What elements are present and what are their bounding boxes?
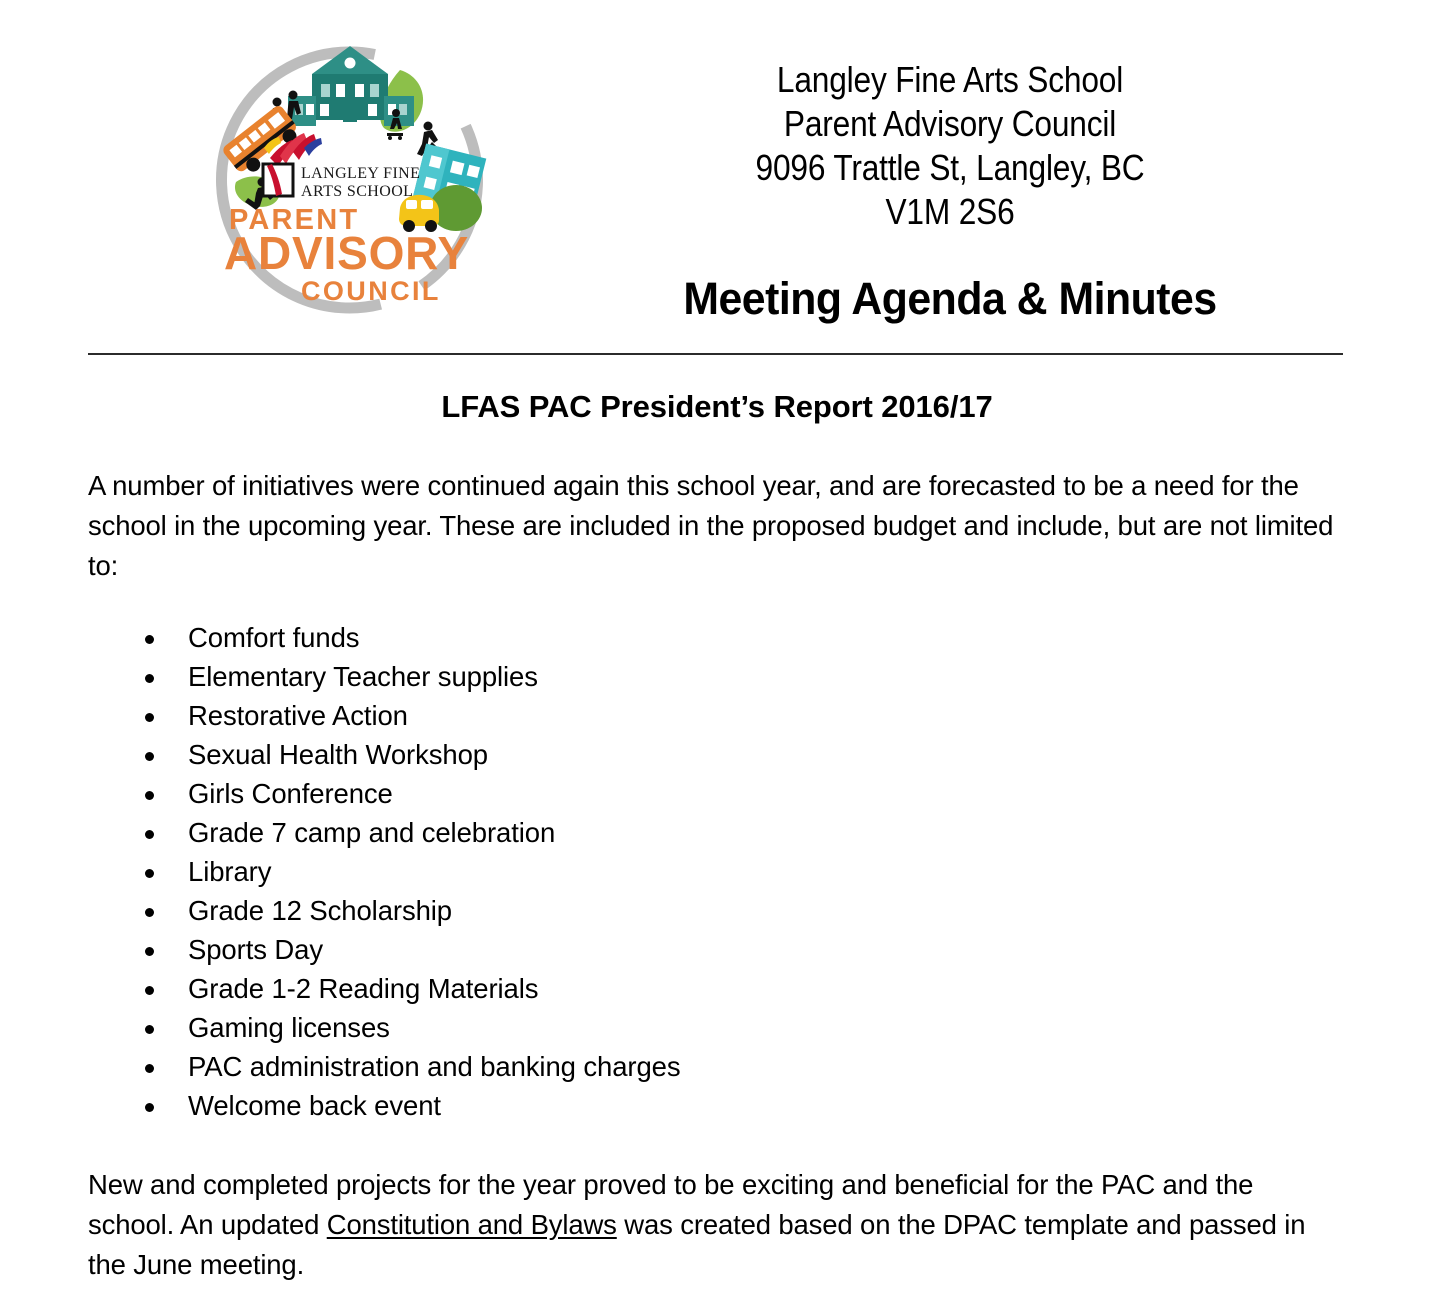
section-heading: LFAS PAC President’s Report 2016/17 [88, 387, 1346, 427]
list-item-label: Welcome back event [188, 1090, 441, 1121]
org-postal-code: V1M 2S6 [572, 190, 1329, 234]
list-item: Restorative Action [88, 696, 1358, 735]
svg-text:ADVISORY: ADVISORY [224, 227, 469, 279]
org-school-name: Langley Fine Arts School [572, 58, 1329, 102]
document-page: LANGLEY FINE ARTS SCHOOL PARENT ADVISORY… [0, 0, 1454, 1294]
document-header: LANGLEY FINE ARTS SCHOOL PARENT ADVISORY… [0, 0, 1454, 340]
list-item: Grade 12 Scholarship [88, 891, 1358, 930]
list-item: Grade 7 camp and celebration [88, 813, 1358, 852]
list-item: Sexual Health Workshop [88, 735, 1358, 774]
list-item-label: Sexual Health Workshop [188, 739, 488, 770]
list-item: Gaming licenses [88, 1008, 1358, 1047]
list-item: Library [88, 852, 1358, 891]
list-item-label: Restorative Action [188, 700, 408, 731]
list-item: Comfort funds [88, 618, 1358, 657]
list-item: Welcome back event [88, 1086, 1358, 1125]
org-street-address: 9096 Trattle St, Langley, BC [572, 146, 1329, 190]
document-title: Meeting Agenda & Minutes [542, 272, 1359, 326]
lfas-pac-logo: LANGLEY FINE ARTS SCHOOL PARENT ADVISORY… [200, 30, 500, 330]
list-item-label: Grade 12 Scholarship [188, 895, 452, 926]
organization-address-block: Langley Fine Arts School Parent Advisory… [520, 58, 1380, 234]
intro-paragraph: A number of initiatives were continued a… [88, 466, 1338, 586]
list-item-label: Elementary Teacher supplies [188, 661, 538, 692]
list-item-label: Gaming licenses [188, 1012, 390, 1043]
list-item: Elementary Teacher supplies [88, 657, 1358, 696]
list-item-label: Girls Conference [188, 778, 393, 809]
list-item-label: Comfort funds [188, 622, 359, 653]
school-mark-text: LANGLEY FINE ARTS SCHOOL [301, 165, 420, 200]
svg-text:ARTS SCHOOL: ARTS SCHOOL [301, 183, 413, 200]
list-item-label: Sports Day [188, 934, 323, 965]
list-item-label: Grade 7 camp and celebration [188, 817, 555, 848]
header-divider [88, 353, 1343, 355]
constitution-and-bylaws-reference: Constitution and Bylaws [327, 1209, 617, 1240]
closing-paragraph: New and completed projects for the year … [88, 1165, 1318, 1285]
list-item-label: PAC administration and banking charges [188, 1051, 681, 1082]
org-council-name: Parent Advisory Council [572, 102, 1329, 146]
initiatives-list: Comfort funds Elementary Teacher supplie… [88, 618, 1358, 1125]
svg-text:LANGLEY FINE: LANGLEY FINE [301, 165, 420, 182]
list-item: PAC administration and banking charges [88, 1047, 1358, 1086]
list-item: Girls Conference [88, 774, 1358, 813]
list-item-label: Grade 1-2 Reading Materials [188, 973, 538, 1004]
list-item-label: Library [188, 856, 271, 887]
list-item: Sports Day [88, 930, 1358, 969]
svg-text:COUNCIL: COUNCIL [301, 276, 441, 306]
document-body: A number of initiatives were continued a… [88, 466, 1358, 1213]
list-item: Grade 1-2 Reading Materials [88, 969, 1358, 1008]
